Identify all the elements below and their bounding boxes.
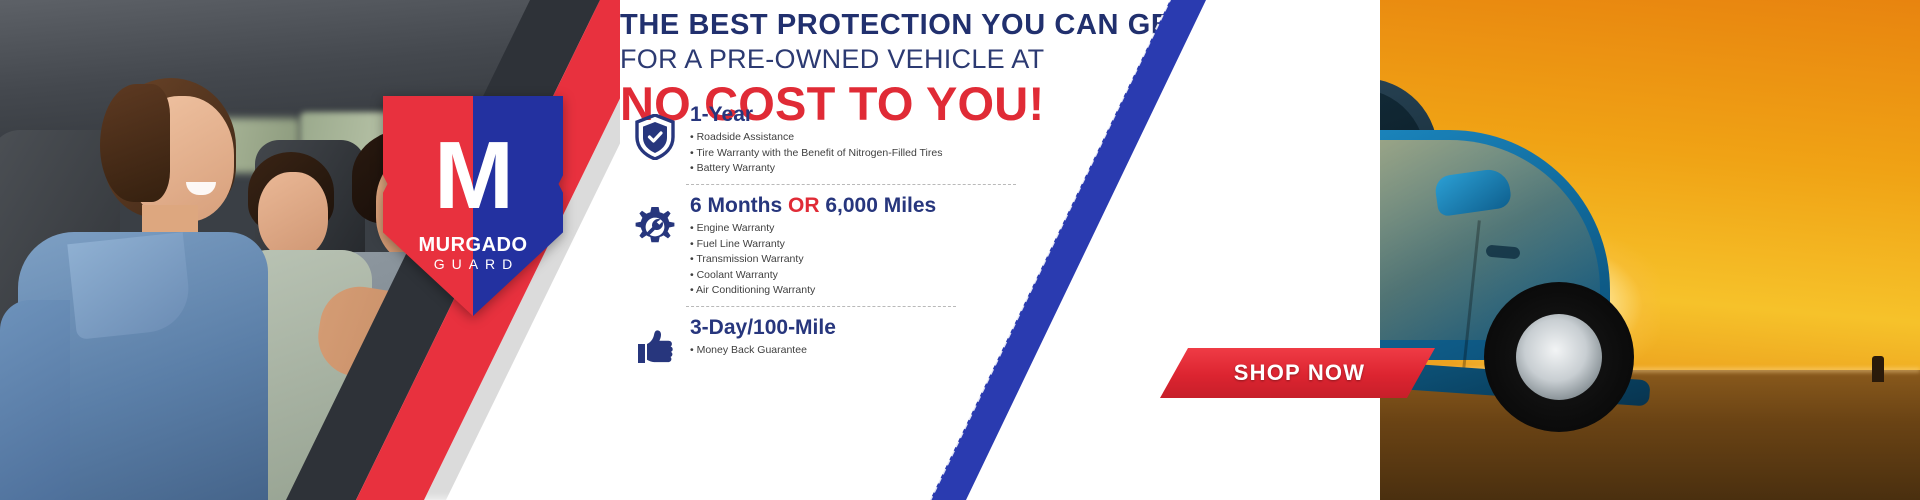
woman-hair-front xyxy=(100,84,170,202)
benefit-title-2-post: 6,000 Miles xyxy=(820,194,937,217)
logo-brand-sub: GUARD xyxy=(383,256,563,272)
boy-face xyxy=(258,172,328,258)
woman-arm xyxy=(0,300,70,500)
logo-letter: M xyxy=(383,128,563,224)
thumbs-up-icon xyxy=(620,313,690,367)
logo-brand-name: MURGADO xyxy=(383,234,563,257)
divider-2 xyxy=(686,306,956,307)
shop-now-label: SHOP NOW xyxy=(1230,360,1365,386)
benefit-title-2-or: OR xyxy=(788,194,820,217)
gear-wrench-icon xyxy=(620,191,690,249)
murgado-guard-logo: M MURGADO GUARD xyxy=(383,96,563,316)
shield-crest: M MURGADO GUARD xyxy=(383,96,563,316)
shield-check-icon xyxy=(620,100,690,160)
dashed-diagonal-line xyxy=(920,0,1920,500)
shop-now-button[interactable]: SHOP NOW xyxy=(1160,348,1435,398)
benefit-title-2-pre: 6 Months xyxy=(690,194,788,217)
promo-banner: THE BEST PROTECTION YOU CAN GET FOR A PR… xyxy=(0,0,1920,500)
